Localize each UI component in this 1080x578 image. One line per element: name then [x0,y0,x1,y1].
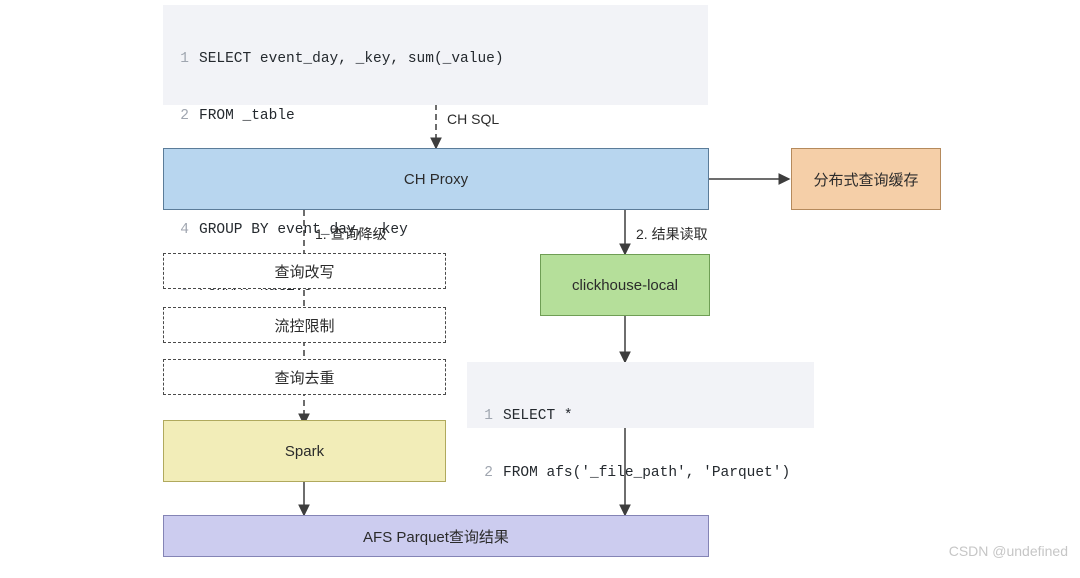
code-line: 4GROUP BY event_day, _key [163,221,708,240]
node-clickhouse-local-label: clickhouse-local [572,277,678,294]
local-sql-code-block: 1SELECT * 2FROM afs('_file_path', 'Parqu… [467,362,814,428]
code-line: 2FROM _table [163,107,708,126]
edge-label-result-read: 2. 结果读取 [636,224,708,244]
node-query-rewrite[interactable]: 查询改写 [163,253,446,289]
line-number: 2 [475,464,493,483]
line-number: 1 [475,407,493,426]
line-text: SELECT event_day, _key, sum(_value) [199,51,504,67]
line-number: 1 [171,50,189,69]
code-line: 1SELECT * [467,407,814,426]
node-afs-parquet-result[interactable]: AFS Parquet查询结果 [163,515,709,557]
line-number: 2 [171,107,189,126]
node-distributed-query-cache-label: 分布式查询缓存 [813,169,918,190]
line-number: 4 [171,221,189,240]
node-ch-proxy-label: CH Proxy [404,171,468,188]
node-query-rewrite-label: 查询改写 [274,261,334,282]
code-line: 1SELECT event_day, _key, sum(_value) [163,50,708,69]
watermark: CSDN @undefined [949,543,1068,559]
node-query-dedup[interactable]: 查询去重 [163,359,446,395]
ch-sql-code-block: 1SELECT event_day, _key, sum(_value) 2FR… [163,5,708,105]
node-spark[interactable]: Spark [163,420,446,482]
node-ch-proxy[interactable]: CH Proxy [163,148,709,210]
node-afs-parquet-result-label: AFS Parquet查询结果 [363,526,509,547]
code-line: 2FROM afs('_file_path', 'Parquet') [467,464,814,483]
node-clickhouse-local[interactable]: clickhouse-local [540,254,710,316]
node-flow-control[interactable]: 流控限制 [163,307,446,343]
line-text: FROM afs('_file_path', 'Parquet') [503,465,790,481]
node-query-dedup-label: 查询去重 [274,367,334,388]
line-text: FROM _table [199,108,295,124]
node-spark-label: Spark [285,443,324,460]
node-flow-control-label: 流控限制 [274,315,334,336]
node-distributed-query-cache[interactable]: 分布式查询缓存 [791,148,941,210]
edge-label-ch-sql: CH SQL [447,111,499,127]
edge-label-query-downgrade: 1. 查询降级 [315,224,387,244]
line-text: SELECT * [503,408,573,424]
diagram-canvas: 1SELECT event_day, _key, sum(_value) 2FR… [0,0,1080,567]
